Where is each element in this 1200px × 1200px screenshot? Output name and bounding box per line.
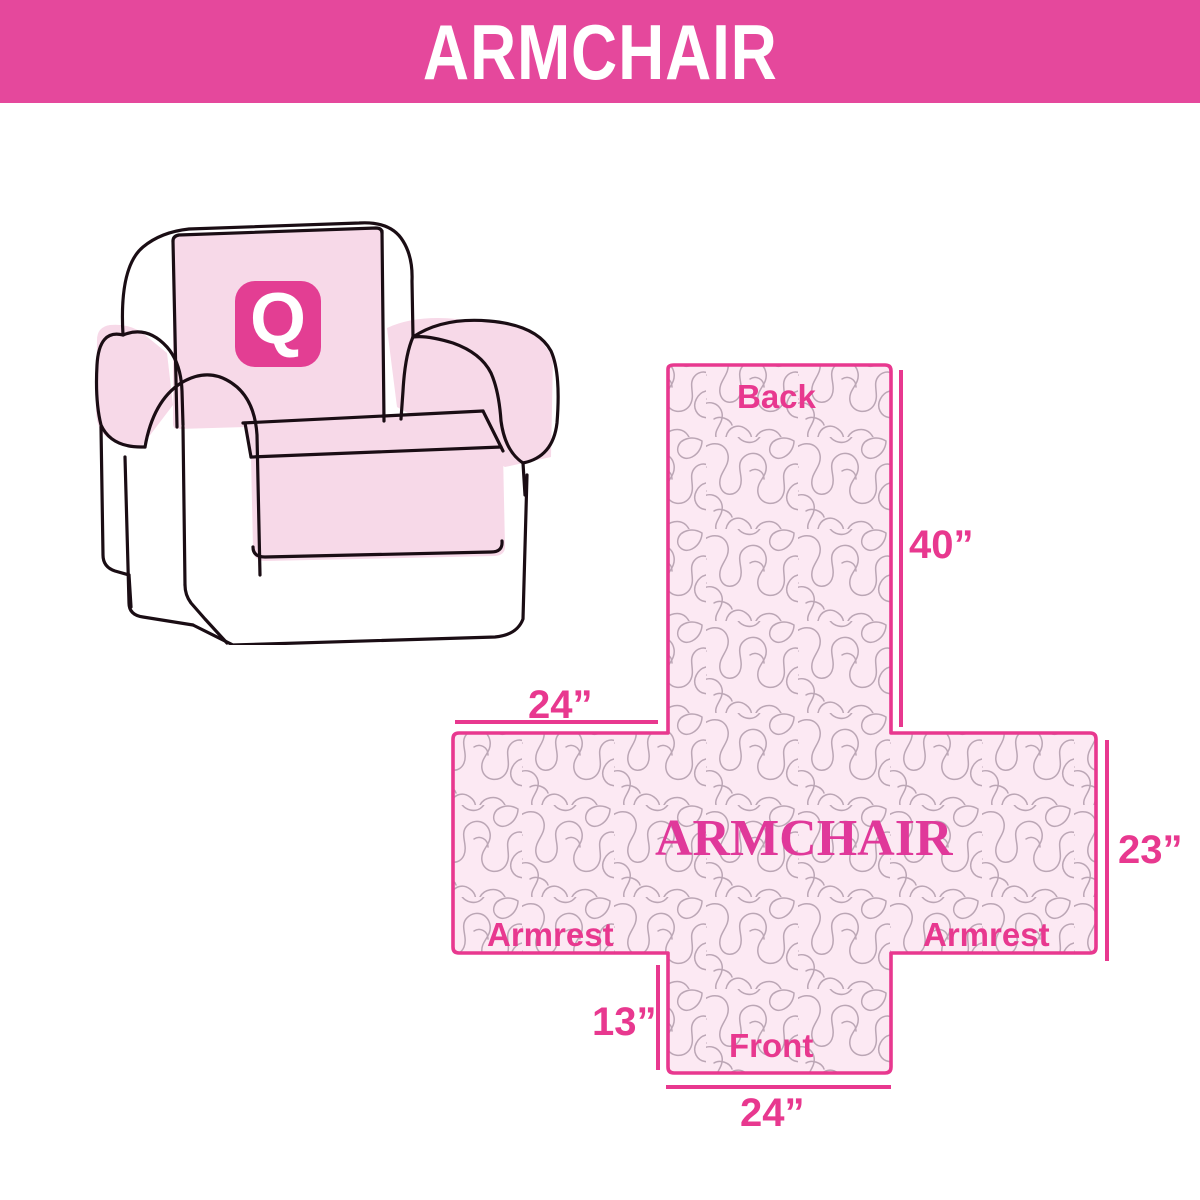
panel-label-back: Back	[737, 380, 816, 413]
header-banner: ARMCHAIR	[0, 0, 1200, 103]
panel-label-armrest-right: Armrest	[923, 918, 1050, 951]
panel-label-armrest-left: Armrest	[487, 918, 614, 951]
q-logo-badge: Q	[235, 279, 321, 367]
q-logo-letter: Q	[250, 279, 306, 359]
panel-label-front: Front	[729, 1029, 813, 1062]
flatlay-svg	[430, 345, 1190, 1135]
dimension-label-front-depth: 13”	[592, 1002, 657, 1042]
dimension-label-armrest-width: 24”	[528, 685, 593, 725]
armchair-spec-sheet: ARMCHAIR	[0, 0, 1200, 1200]
flatlay-pattern-diagram	[430, 345, 1190, 1135]
dimension-label-back-height: 40”	[909, 525, 974, 565]
dimension-label-center-height: 23”	[1118, 830, 1183, 870]
page-title: ARMCHAIR	[423, 13, 778, 91]
center-product-label: ARMCHAIR	[655, 813, 953, 865]
dimension-label-front-width: 24”	[740, 1093, 805, 1133]
